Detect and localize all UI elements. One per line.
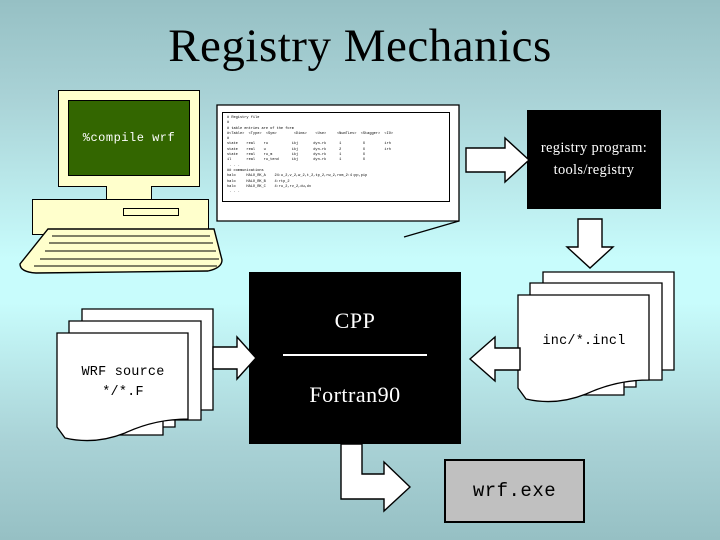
monitor-stand-neck: [106, 186, 152, 200]
arrow-cpp-to-wrfexe: [341, 444, 410, 511]
cpp-divider-rule: [283, 354, 427, 356]
inc-files-document-stack: inc/*.incl: [516, 270, 676, 403]
cpp-fortran-box: CPP Fortran90: [249, 272, 461, 444]
keyboard-icon: [18, 228, 223, 275]
slide-canvas: Registry Mechanics %compile wrf # Regist…: [0, 0, 720, 540]
wrf-exe-label: wrf.exe: [473, 480, 556, 502]
arrow-registry-program-to-inc: [567, 219, 613, 268]
monitor-screen: %compile wrf: [68, 100, 190, 176]
fortran90-label: Fortran90: [309, 382, 400, 408]
registry-program-line1: registry program:: [541, 138, 647, 159]
registry-file-document: # Registry file # # table entries are of…: [216, 104, 460, 238]
page-title: Registry Mechanics: [0, 22, 720, 71]
workstation-illustration: %compile wrf: [18, 90, 228, 275]
registry-file-content: # Registry file # # table entries are of…: [227, 116, 445, 195]
cpp-label: CPP: [335, 308, 376, 334]
wrf-source-label: WRF source */*.F: [61, 363, 185, 404]
registry-file-text-area: # Registry file # # table entries are of…: [222, 112, 450, 202]
registry-program-line2: tools/registry: [554, 160, 635, 181]
inc-files-label: inc/*.incl: [520, 332, 648, 352]
arrow-regfile-to-registry-program: [466, 138, 529, 182]
arrow-inc-to-cpp: [470, 337, 520, 381]
wrf-source-document-stack: WRF source */*.F: [55, 307, 215, 442]
wrf-exe-box: wrf.exe: [444, 459, 585, 523]
registry-program-box: registry program: tools/registry: [527, 110, 661, 209]
drive-slot: [123, 208, 179, 216]
monitor-screen-text: %compile wrf: [83, 131, 175, 145]
